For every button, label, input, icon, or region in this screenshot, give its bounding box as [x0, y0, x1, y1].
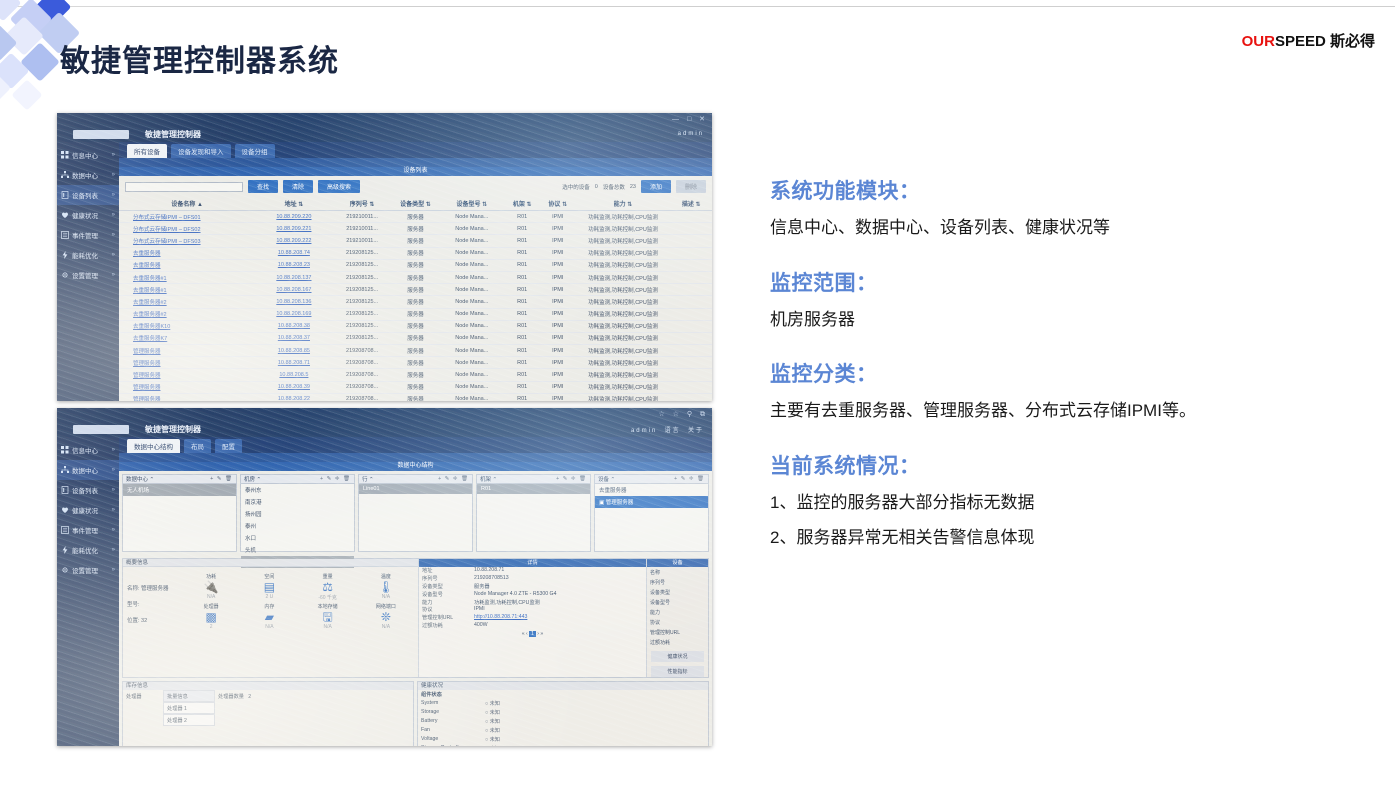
s1-cell-4: Node Mana...: [439, 247, 504, 259]
list-item[interactable]: 去重服务器: [595, 484, 708, 496]
s1-cell-7: 功耗监测,功耗控制,CPU监测: [576, 211, 671, 223]
s1-cell-0[interactable]: 去重服务器#2: [119, 308, 255, 320]
s1-cell-7: 功耗监测,功耗控制,CPU监测: [576, 296, 671, 308]
table-row[interactable]: 分布式云存储IPMI – DFS0310.88.209.222219210011…: [119, 235, 712, 247]
s1-cell-8: [670, 296, 712, 308]
s1-cell-5: R01: [504, 357, 540, 369]
s2-language-link[interactable]: 语言: [665, 428, 681, 434]
s1-cell-0[interactable]: 管理服务器: [119, 345, 255, 357]
s2-inventory-body: 处理器 批量信息处理器 1处理器 2 处理器数量 2: [123, 690, 413, 726]
chevron-right-icon: »: [112, 212, 115, 218]
s1-cell-0[interactable]: 去重服务器: [119, 259, 255, 271]
s2-side-field-4: 能力: [647, 607, 708, 617]
network-icon: ❊: [358, 611, 414, 624]
s2-field-6: 管理控制URL http://10.88.208.71:443: [419, 614, 646, 622]
s1-cell-6: IPMI: [540, 223, 576, 235]
s1-cell-4: Node Mana...: [439, 345, 504, 357]
s2-panel-tools-3[interactable]: + ✎ ✛ 🗑: [556, 476, 587, 482]
s2-side-field-3: 设备型号: [647, 597, 708, 607]
s1-cell-5: R01: [504, 284, 540, 296]
s1-cell-6: IPMI: [540, 259, 576, 271]
s1-appbar: 敏捷管理控制器 admin: [57, 126, 712, 142]
s2-about-link[interactable]: 关于: [688, 428, 704, 434]
s2-device-detail: 概要信息 名称: 管理服务器 型号: 位置: 32 功耗 🔌 N/A 空间 ▤ …: [122, 558, 709, 678]
s1-cell-1[interactable]: 10.88.208.85: [255, 345, 332, 357]
s1-cell-1[interactable]: 10.88.208.23: [255, 259, 332, 271]
s2-panel-header-0: 数据中心 ⌃ + ✎ 🗑: [123, 475, 236, 484]
s2-metric-5: 内存 ▰ N/A: [241, 603, 297, 630]
s1-device-table: 设备名称 ▲地址 ⇅序列号 ⇅设备类型 ⇅设备型号 ⇅机架 ⇅协议 ⇅能力 ⇅描…: [119, 197, 712, 401]
s1-sidebar-item-health[interactable]: 健康状况»: [57, 205, 119, 225]
table-row[interactable]: 去重服务器#110.88.208.167219208125...服务器Node …: [119, 284, 712, 296]
s1-cell-8: [670, 235, 712, 247]
status-line-2: 2、服务器异常无相关告警信息体现: [770, 525, 1390, 551]
s2-field-key-4: 能力: [422, 599, 474, 606]
s1-cell-1[interactable]: 10.88.208.137: [255, 271, 332, 283]
s2-side-field-1: 序列号: [647, 577, 708, 587]
s1-col-2[interactable]: 序列号 ⇅: [332, 197, 391, 211]
s2-health-name-1: Storage: [421, 709, 485, 716]
s1-tab-all-devices[interactable]: 所有设备: [127, 144, 167, 158]
s1-cell-8: [670, 223, 712, 235]
s2-panel-tools-1[interactable]: + ✎ ✛ 🗑: [320, 476, 351, 482]
s2-health-button[interactable]: 健康状况: [651, 651, 704, 662]
section-heading-status: 当前系统情况：: [770, 450, 1390, 480]
s2-health-col-status: 状态: [431, 691, 441, 698]
s2-panel-header-4: 设备 ⌃ + ✎ ✛ 🗑: [595, 475, 708, 484]
s2-field-key-7: 过额功耗: [422, 622, 474, 629]
s1-cell-0[interactable]: 管理服务器: [119, 357, 255, 369]
s1-cell-6: IPMI: [540, 393, 576, 401]
s1-table-header-row: 设备名称 ▲地址 ⇅序列号 ⇅设备类型 ⇅设备型号 ⇅机架 ⇅协议 ⇅能力 ⇅描…: [119, 197, 712, 211]
disk-icon: 🖫: [300, 611, 356, 624]
chevron-right-icon: »: [112, 192, 115, 198]
s2-tabrow: 数据中心结构 布局 配置: [119, 437, 712, 453]
s1-account-label[interactable]: admin: [678, 131, 704, 137]
s2-field-value-5: IPMI: [474, 606, 643, 613]
s1-cell-1[interactable]: 10.88.208.38: [255, 320, 332, 332]
s1-sidebar-label-events: 事件管理: [72, 230, 98, 240]
s1-sidebar: 信息中心» 数据中心» 设备列表» 健康状况» 事件管理»: [57, 142, 119, 401]
s1-cell-5: R01: [504, 211, 540, 223]
s2-inventory-count-label: 处理器数量: [218, 694, 244, 700]
s1-advanced-search-button[interactable]: 高级搜索: [318, 180, 360, 193]
s2-metric-value-1: 2 U: [241, 594, 297, 600]
s2-inv-tab-0[interactable]: 批量信息: [163, 690, 215, 702]
s1-delete-button[interactable]: 删除: [676, 180, 706, 193]
s1-search-row: 查找 清除 高级搜索 选中的设备 0 设备总数 23 添加 删除: [119, 176, 712, 197]
s1-cell-0[interactable]: 分布式云存储IPMI – DFS02: [119, 223, 255, 235]
s1-cell-5: R01: [504, 235, 540, 247]
table-row[interactable]: 管理服务器10.88.208.22219208708...服务器Node Man…: [119, 393, 712, 401]
s1-cell-0[interactable]: 分布式云存储IPMI – DFS03: [119, 235, 255, 247]
s1-cell-1[interactable]: 10.88.208.136: [255, 296, 332, 308]
s1-col-8[interactable]: 描述 ⇅: [670, 197, 712, 211]
s2-summary-panel: 概要信息 名称: 管理服务器 型号: 位置: 32 功耗 🔌 N/A 空间 ▤ …: [123, 559, 418, 677]
s1-cell-1[interactable]: 10.88.209.220: [255, 211, 332, 223]
s2-sidebar-item-datacenter[interactable]: 数据中心»: [57, 460, 119, 480]
s1-cell-1[interactable]: 10.88.208.167: [255, 284, 332, 296]
s1-col-7[interactable]: 能力 ⇅: [576, 197, 671, 211]
s2-inventory-detail: 处理器数量 2: [215, 690, 413, 726]
s1-cell-6: IPMI: [540, 320, 576, 332]
s1-sidebar-item-energy[interactable]: 能耗优化»: [57, 245, 119, 265]
s1-cell-8: [670, 320, 712, 332]
s2-content: 数据中心结构 布局 配置 数据中心结构 数据中心 ⌃ + ✎ 🗑 无人机场 机房…: [119, 437, 712, 746]
s1-sidebar-item-devices[interactable]: 设备列表»: [57, 185, 119, 205]
s2-metric-value-2: -60 千克: [300, 594, 356, 601]
heart-icon: [61, 506, 69, 514]
s1-tab-discovery[interactable]: 设备发现和导入: [171, 144, 231, 158]
list-item[interactable]: 水口: [241, 532, 354, 544]
heart-icon: [61, 211, 69, 219]
s2-metric-3: 温度 🌡 N/A: [358, 573, 414, 601]
s1-cell-4: Node Mana...: [439, 332, 504, 344]
s2-side-panel: 设备 名称序列号设备类型设备型号能力协议管理控制URL过额功耗 健康状况 性能指…: [646, 559, 708, 677]
s2-tab-config[interactable]: 配置: [215, 439, 242, 453]
section-heading-modules: 系统功能模块：: [770, 175, 1390, 205]
s1-cell-1[interactable]: 10.88.208.22: [255, 393, 332, 401]
s1-cell-5: R01: [504, 308, 540, 320]
s1-cell-0[interactable]: 去重服务器K7: [119, 332, 255, 344]
s1-cell-5: R01: [504, 223, 540, 235]
s1-col-1[interactable]: 地址 ⇅: [255, 197, 332, 211]
s1-cell-8: [670, 357, 712, 369]
grid-icon: [61, 151, 69, 159]
s2-detail-header: 详情: [419, 559, 646, 567]
table-row[interactable]: 管理服务器10.88.208.85219208708...服务器Node Man…: [119, 345, 712, 357]
s1-add-button[interactable]: 添加: [641, 180, 671, 193]
s1-sidebar-label-info: 信息中心: [72, 150, 98, 160]
s1-cell-5: R01: [504, 259, 540, 271]
s1-cell-3: 服务器: [392, 247, 439, 259]
s2-sidebar-item-devices[interactable]: 设备列表»: [57, 480, 119, 500]
status-line-1: 1、监控的服务器大部分指标无数据: [770, 490, 1390, 516]
s2-panel-header-1: 机房 ⌃ + ✎ ✛ 🗑: [241, 475, 354, 484]
s2-panel-4: 设备 ⌃ + ✎ ✛ 🗑 去重服务器▣ 管理服务器: [594, 474, 709, 552]
s1-cell-7: 功耗监测,功耗控制,CPU监测: [576, 259, 671, 271]
s2-field-value-6[interactable]: http://10.88.208.71:443: [474, 614, 643, 621]
s2-perf-button[interactable]: 性能指标: [651, 666, 704, 677]
s2-health-row-3: Fan ○ 未知: [418, 726, 708, 735]
s1-sidebar-item-events[interactable]: 事件管理»: [57, 225, 119, 245]
s1-cell-2: 219210011...: [332, 211, 391, 223]
s1-col-4[interactable]: 设备型号 ⇅: [439, 197, 504, 211]
s2-health-title: 健康状况: [418, 682, 708, 690]
s1-cell-3: 服务器: [392, 259, 439, 271]
s2-side-field-5: 协议: [647, 617, 708, 627]
s2-health-panel: 健康状况 组件 状态 System ○ 未知 Storage ○ 未知 Batt…: [417, 681, 709, 746]
s1-cell-0[interactable]: 管理服务器: [119, 381, 255, 393]
s1-sidebar-item-info[interactable]: 信息中心»: [57, 145, 119, 165]
s2-sidebar-item-health[interactable]: 健康状况»: [57, 500, 119, 520]
s2-inv-tab-1[interactable]: 处理器 1: [163, 702, 215, 714]
s1-cell-4: Node Mana...: [439, 381, 504, 393]
chevron-right-icon: »: [112, 467, 115, 473]
s1-cell-7: 功耗监测,功耗控制,CPU监测: [576, 381, 671, 393]
s2-field-value-7: 400W: [474, 622, 643, 629]
s1-cell-0[interactable]: 去重服务器#1: [119, 284, 255, 296]
plug-icon: 🔌: [183, 581, 239, 594]
header-divider-2: [130, 6, 1395, 7]
s2-metric-6: 本地存储 🖫 N/A: [300, 603, 356, 630]
s1-cell-0[interactable]: 管理服务器: [119, 393, 255, 401]
s2-panel-tools-4[interactable]: + ✎ ✛ 🗑: [674, 476, 705, 482]
s1-cell-1[interactable]: 10.88.209.221: [255, 223, 332, 235]
s1-cell-5: R01: [504, 369, 540, 381]
s2-field-3: 设备型号 Node Manager 4.0 ZTE - R5300 G4: [419, 590, 646, 598]
chevron-right-icon: »: [112, 272, 115, 278]
s1-sidebar-item-datacenter[interactable]: 数据中心»: [57, 165, 119, 185]
s1-cell-8: [670, 381, 712, 393]
s2-health-status-0: ○ 未知: [485, 700, 705, 707]
s1-cell-2: 219208125...: [332, 296, 391, 308]
s1-cell-6: IPMI: [540, 369, 576, 381]
s2-app-logo: [73, 425, 129, 434]
s2-sidebar-label-datacenter: 数据中心: [72, 465, 98, 475]
list-item[interactable]: 泰州: [241, 520, 354, 532]
s2-panel-2: 行 ⌃ + ✎ ✛ 🗑 Line01: [358, 474, 473, 552]
s2-sidebar: 信息中心» 数据中心» 设备列表» 健康状况» 事件管理»: [57, 437, 119, 746]
s2-health-status-4: ○ 未知: [485, 736, 705, 743]
s2-sidebar-label-events: 事件管理: [72, 525, 98, 535]
s1-cell-1[interactable]: 10.88.209.222: [255, 235, 332, 247]
s2-inv-tab-2[interactable]: 处理器 2: [163, 714, 215, 726]
s1-cell-8: [670, 332, 712, 344]
list-item[interactable]: R01: [477, 484, 590, 494]
s1-cell-3: 服务器: [392, 332, 439, 344]
s1-cell-2: 219208125...: [332, 271, 391, 283]
rack-icon: ▤: [241, 581, 297, 594]
server-icon: [61, 486, 69, 494]
table-row[interactable]: 管理服务器10.88.208.39219208708...服务器Node Man…: [119, 381, 712, 393]
table-row[interactable]: 去重服务器#110.88.208.137219208125...服务器Node …: [119, 271, 712, 283]
s1-cell-2: 219208125...: [332, 259, 391, 271]
list-icon: [61, 231, 69, 239]
s2-panel-header-3: 机架 ⌃ + ✎ ✛ 🗑: [477, 475, 590, 484]
table-row[interactable]: 去重服务器K1010.88.208.38219208125...服务器Node …: [119, 320, 712, 332]
table-row[interactable]: 分布式云存储IPMI – DFS0210.88.209.221219210011…: [119, 223, 712, 235]
s2-sidebar-label-info: 信息中心: [72, 445, 98, 455]
table-row[interactable]: 去重服务器10.88.208.74219208125...服务器Node Man…: [119, 247, 712, 259]
s2-sidebar-label-health: 健康状况: [72, 505, 98, 515]
bolt-icon: [61, 546, 69, 554]
weight-icon: ⚖: [300, 581, 356, 594]
s2-field-key-5: 协议: [422, 606, 474, 613]
list-item[interactable]: 头机: [241, 544, 354, 556]
s2-health-row-5: Storage Controller ○ 未知: [418, 744, 708, 746]
s1-window-controls-icon[interactable]: — □ ✕: [672, 115, 708, 123]
s2-metric-label-3: 温度: [358, 573, 414, 580]
list-item[interactable]: ▣ 管理服务器: [595, 496, 708, 508]
list-icon: [61, 526, 69, 534]
s2-metric-label-4: 处理器: [183, 603, 239, 610]
s1-cell-6: IPMI: [540, 271, 576, 283]
list-item[interactable]: Line01: [359, 484, 472, 494]
s1-cell-6: IPMI: [540, 308, 576, 320]
s2-panel-title-1: 机房 ⌃: [244, 475, 261, 483]
s2-field-1: 序列号 219208708513: [419, 575, 646, 583]
s2-panel-title-4: 设备 ⌃: [598, 475, 615, 483]
s2-header-links[interactable]: admin 语言 关于: [631, 425, 704, 434]
s1-col-6[interactable]: 协议 ⇅: [540, 197, 576, 211]
s2-body: 信息中心» 数据中心» 设备列表» 健康状况» 事件管理»: [57, 437, 712, 746]
s1-cell-2: 219208708...: [332, 369, 391, 381]
table-row[interactable]: 去重服务器#210.88.208.136219208125...服务器Node …: [119, 296, 712, 308]
s1-tabstrip: [119, 158, 712, 167]
s1-col-5[interactable]: 机架 ⇅: [504, 197, 540, 211]
s1-cell-3: 服务器: [392, 211, 439, 223]
s1-cell-6: IPMI: [540, 381, 576, 393]
s2-metric-value-0: N/A: [183, 594, 239, 600]
s2-field-7: 过额功耗 400W: [419, 621, 646, 629]
sitemap-icon: [61, 171, 69, 179]
s1-search-button[interactable]: 查找: [248, 180, 278, 193]
s1-cell-1[interactable]: 10.88.208.39: [255, 381, 332, 393]
table-row[interactable]: 去重服务器K710.88.208.37219208125...服务器Node M…: [119, 332, 712, 344]
list-item[interactable]: 泰州东: [241, 484, 354, 496]
s1-selected-label: 选中的设备: [562, 183, 590, 191]
s1-cell-8: [670, 259, 712, 271]
s2-sidebar-item-events[interactable]: 事件管理»: [57, 520, 119, 540]
s2-health-status-3: ○ 未知: [485, 727, 705, 734]
s2-field-key-3: 设备型号: [422, 591, 474, 598]
s2-health-name-4: Voltage: [421, 736, 485, 743]
s1-cell-1[interactable]: 10.88.208.169: [255, 308, 332, 320]
s1-cell-2: 219208708...: [332, 393, 391, 401]
table-row[interactable]: 管理服务器10.88.208.71219208708...服务器Node Man…: [119, 357, 712, 369]
s2-sidebar-item-energy[interactable]: 能耗优化»: [57, 540, 119, 560]
s1-tab-groups[interactable]: 设备分组: [235, 144, 275, 158]
s2-meta-name: 名称: 管理服务器: [127, 581, 169, 597]
s2-field-key-6: 管理控制URL: [422, 614, 474, 621]
s1-clear-button[interactable]: 清除: [283, 180, 313, 193]
chevron-right-icon: »: [112, 487, 115, 493]
gear-icon: [61, 566, 69, 574]
s1-cell-5: R01: [504, 247, 540, 259]
s2-metric-label-7: 网络端口: [358, 603, 414, 610]
s2-account-label[interactable]: admin: [631, 428, 657, 434]
s2-panel-tools-0[interactable]: + ✎ 🗑: [210, 476, 233, 482]
cpu-icon: ▩: [183, 611, 239, 624]
s1-cell-0[interactable]: 去重服务器K10: [119, 320, 255, 332]
s1-cell-5: R01: [504, 271, 540, 283]
s1-cell-0[interactable]: 分布式云存储IPMI – DFS01: [119, 211, 255, 223]
s1-cell-6: IPMI: [540, 247, 576, 259]
s2-window-controls-icon[interactable]: ☆ ☆ ⚲ ⧉: [658, 410, 708, 419]
screenshot-datacenter-structure: ☆ ☆ ⚲ ⧉ 敏捷管理控制器 admin 语言 关于 信息中心» 数据中心» …: [57, 408, 712, 746]
s1-cell-7: 功耗监测,功耗控制,CPU监测: [576, 369, 671, 381]
s2-health-col-component: 组件: [421, 691, 431, 698]
s2-panel-title-0: 数据中心 ⌃: [126, 475, 154, 483]
s2-tab-structure[interactable]: 数据中心结构: [127, 439, 180, 453]
s2-metric-label-2: 重量: [300, 573, 356, 580]
s2-inventory-panel: 库存信息 处理器 批量信息处理器 1处理器 2 处理器数量 2: [122, 681, 414, 746]
s2-field-key-2: 设备类型: [422, 583, 474, 590]
s1-cell-5: R01: [504, 332, 540, 344]
s1-col-0[interactable]: 设备名称 ▲: [119, 197, 255, 211]
s1-cell-2: 219210011...: [332, 223, 391, 235]
s2-field-2: 设备类型 服务器: [419, 583, 646, 591]
s1-cell-0[interactable]: 去重服务器#1: [119, 271, 255, 283]
chevron-right-icon: »: [112, 232, 115, 238]
s1-cell-3: 服务器: [392, 223, 439, 235]
s1-cell-0[interactable]: 去重服务器: [119, 247, 255, 259]
s1-cell-8: [670, 284, 712, 296]
s2-panel-0: 数据中心 ⌃ + ✎ 🗑 无人机场: [122, 474, 237, 552]
s2-panel-tools-2[interactable]: + ✎ ✛ 🗑: [438, 476, 469, 482]
table-row[interactable]: 去重服务器10.88.208.23219208125...服务器Node Man…: [119, 259, 712, 271]
s2-panel-title-2: 行 ⌃: [362, 475, 374, 483]
s1-cell-1[interactable]: 10.88.208.71: [255, 357, 332, 369]
s2-metric-label-5: 内存: [241, 603, 297, 610]
s1-content: 所有设备 设备发现和导入 设备分组 设备列表 查找 清除 高级搜索 选中的设备 …: [119, 142, 712, 401]
s1-cell-4: Node Mana...: [439, 320, 504, 332]
s1-cell-3: 服务器: [392, 381, 439, 393]
s2-sidebar-item-settings[interactable]: 设置管理»: [57, 560, 119, 580]
list-item[interactable]: 南京港: [241, 496, 354, 508]
s1-cell-3: 服务器: [392, 284, 439, 296]
s1-cell-4: Node Mana...: [439, 357, 504, 369]
s2-titlebar: ☆ ☆ ⚲ ⧉: [57, 408, 712, 421]
s1-cell-6: IPMI: [540, 332, 576, 344]
s1-cell-0[interactable]: 管理服务器: [119, 369, 255, 381]
s1-counters: 选中的设备 0 设备总数 23 添加 删除: [562, 180, 706, 193]
s1-cell-4: Node Mana...: [439, 271, 504, 283]
list-item[interactable]: 扬州园: [241, 508, 354, 520]
s1-cell-6: IPMI: [540, 357, 576, 369]
s1-cell-5: R01: [504, 393, 540, 401]
s2-panel-title: 数据中心结构: [119, 462, 712, 471]
s2-sidebar-label-energy: 能耗优化: [72, 545, 98, 555]
s1-cell-1[interactable]: 10.88.208.37: [255, 332, 332, 344]
section-body-status: 1、监控的服务器大部分指标无数据 2、服务器异常无相关告警信息体现: [770, 490, 1390, 551]
s2-metric-value-7: N/A: [358, 624, 414, 630]
s1-search-input[interactable]: [125, 182, 243, 192]
s1-cell-6: IPMI: [540, 345, 576, 357]
brand-our: OUR: [1242, 33, 1275, 50]
s1-cell-4: Node Mana...: [439, 211, 504, 223]
s2-field-value-1: 219208708513: [474, 575, 643, 582]
table-row[interactable]: 管理服务器10.88.208.5219208708...服务器Node Mana…: [119, 369, 712, 381]
s2-sidebar-item-info[interactable]: 信息中心»: [57, 440, 119, 460]
s1-col-3[interactable]: 设备类型 ⇅: [392, 197, 439, 211]
s1-cell-8: [670, 308, 712, 320]
list-item[interactable]: 无人机场: [123, 484, 236, 496]
s2-inventory-count-value: 2: [248, 694, 251, 700]
s1-cell-2: 219208125...: [332, 308, 391, 320]
s1-sidebar-item-settings[interactable]: 设置管理»: [57, 265, 119, 285]
s1-sidebar-label-datacenter: 数据中心: [72, 170, 98, 180]
section-body-category: 主要有去重服务器、管理服务器、分布式云存储IPMI等。: [770, 398, 1390, 424]
s1-cell-7: 功耗监测,功耗控制,CPU监测: [576, 284, 671, 296]
s2-inventory-category[interactable]: 处理器: [123, 690, 163, 726]
s2-metric-label-6: 本地存储: [300, 603, 356, 610]
s1-cell-0[interactable]: 去重服务器#2: [119, 296, 255, 308]
table-row[interactable]: 去重服务器#210.88.208.169219208125...服务器Node …: [119, 308, 712, 320]
s2-side-field-2: 设备类型: [647, 587, 708, 597]
s1-cell-1[interactable]: 10.88.208.5: [255, 369, 332, 381]
s2-field-value-3: Node Manager 4.0 ZTE - R5300 G4: [474, 591, 643, 598]
s2-pager-current[interactable]: 1: [529, 631, 536, 637]
s1-tabrow: 所有设备 设备发现和导入 设备分组: [119, 142, 712, 158]
table-row[interactable]: 分布式云存储IPMI – DFS0110.88.209.220219210011…: [119, 211, 712, 223]
s2-tab-layout[interactable]: 布局: [184, 439, 211, 453]
s2-pager[interactable]: « ‹ 1 › »: [419, 631, 646, 637]
brand-logo: OURSPEED 斯必得: [1242, 30, 1375, 51]
s1-cell-1[interactable]: 10.88.208.74: [255, 247, 332, 259]
s1-cell-8: [670, 393, 712, 401]
